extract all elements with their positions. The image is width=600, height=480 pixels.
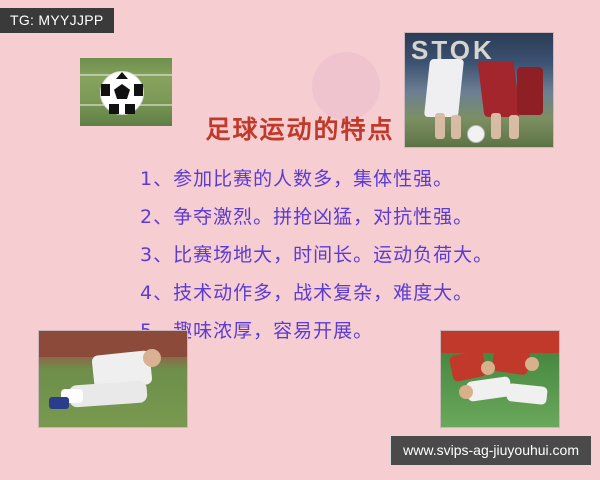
ball-panel bbox=[116, 72, 128, 79]
ball-panel bbox=[134, 84, 143, 96]
player-head bbox=[459, 385, 473, 399]
player-head bbox=[525, 357, 539, 371]
soccer-ball-icon bbox=[100, 71, 144, 115]
slide-body-text: 1、参加比赛的人数多，集体性强。 2、争夺激烈。拼抢凶猛，对抗性强。 3、比赛场… bbox=[0, 160, 600, 350]
player-red-kit bbox=[478, 61, 521, 117]
body-line-1: 1、参加比赛的人数多，集体性强。 bbox=[0, 160, 600, 198]
body-line-4: 4、技术动作多，战术复杂，难度大。 bbox=[0, 274, 600, 312]
players-celebrating-photo bbox=[440, 330, 560, 428]
player-boot bbox=[49, 397, 69, 409]
player-white-kit bbox=[424, 59, 464, 117]
slide-canvas: TG: MYYJJPP STOK 足球运动的特点 1、参加比赛的人数多，集体性强… bbox=[0, 0, 600, 480]
player-white-kit bbox=[466, 376, 512, 402]
ball-panel bbox=[114, 84, 130, 99]
sitting-player-head bbox=[143, 349, 161, 367]
tg-watermark-tag: TG: MYYJJPP bbox=[0, 8, 114, 33]
player-white-kit bbox=[506, 383, 548, 405]
player-red-kit-2 bbox=[517, 67, 543, 115]
ball-panel bbox=[101, 84, 110, 96]
slide-title: 足球运动的特点 bbox=[0, 110, 600, 146]
players-sitting-photo bbox=[38, 330, 188, 428]
player-head bbox=[481, 361, 495, 375]
body-line-2: 2、争夺激烈。拼抢凶猛，对抗性强。 bbox=[0, 198, 600, 236]
body-line-3: 3、比赛场地大，时间长。运动负荷大。 bbox=[0, 236, 600, 274]
url-watermark-tag: www.svips-ag-jiuyouhui.com bbox=[390, 435, 592, 466]
